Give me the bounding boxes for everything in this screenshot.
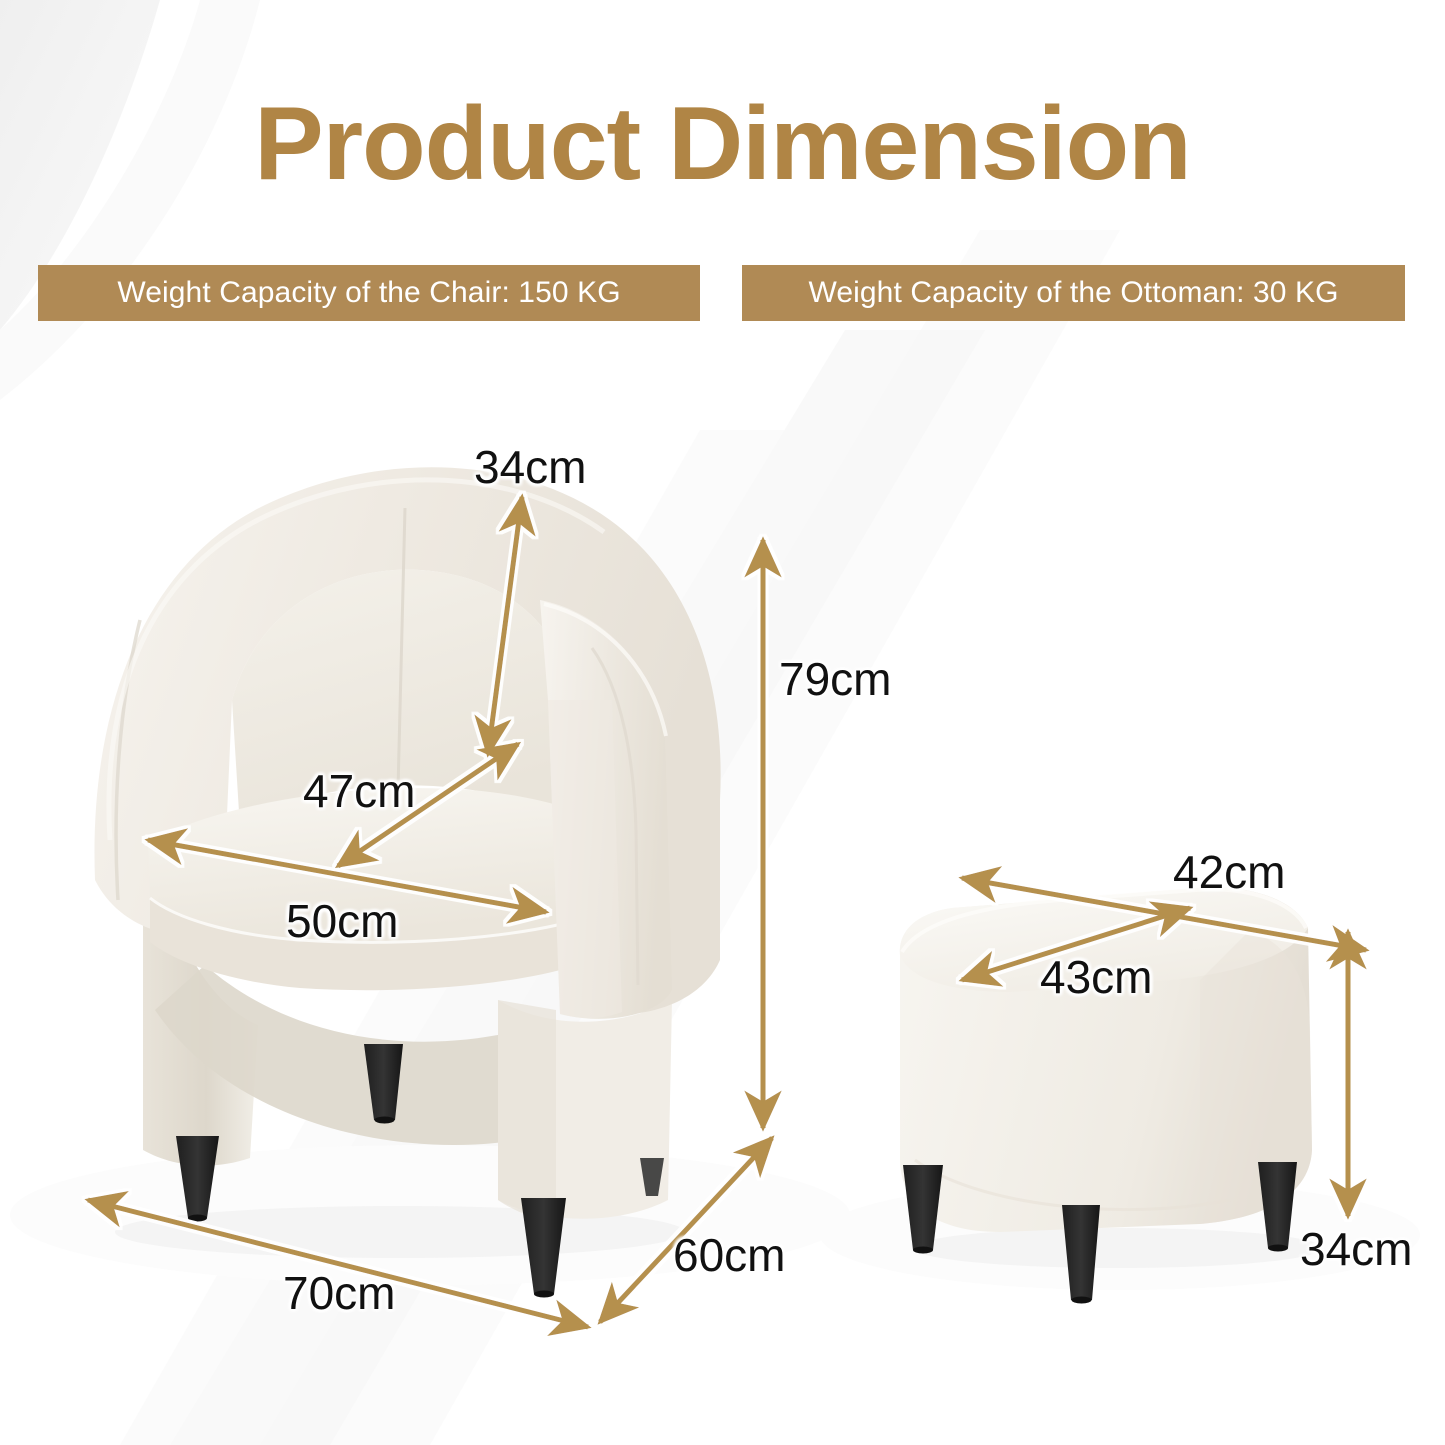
- dimension-label-chair-overall-height: 79cm: [779, 652, 891, 706]
- dimension-label-chair-overall-depth: 60cm: [673, 1228, 785, 1282]
- dimension-label-ottoman-width: 43cm: [1040, 950, 1152, 1004]
- dimension-label-chair-seat-depth: 47cm: [303, 764, 415, 818]
- dimension-label-ottoman-depth: 42cm: [1173, 845, 1285, 899]
- arrow-chair-back-height: [488, 497, 522, 754]
- dimension-label-chair-overall-width: 70cm: [283, 1266, 395, 1320]
- dimension-label-chair-seat-width: 50cm: [286, 894, 398, 948]
- product-dimension-page: Product Dimension Weight Capacity of the…: [0, 0, 1445, 1445]
- dimension-label-chair-back-height: 34cm: [474, 440, 586, 494]
- dimension-label-ottoman-height: 34cm: [1300, 1222, 1412, 1276]
